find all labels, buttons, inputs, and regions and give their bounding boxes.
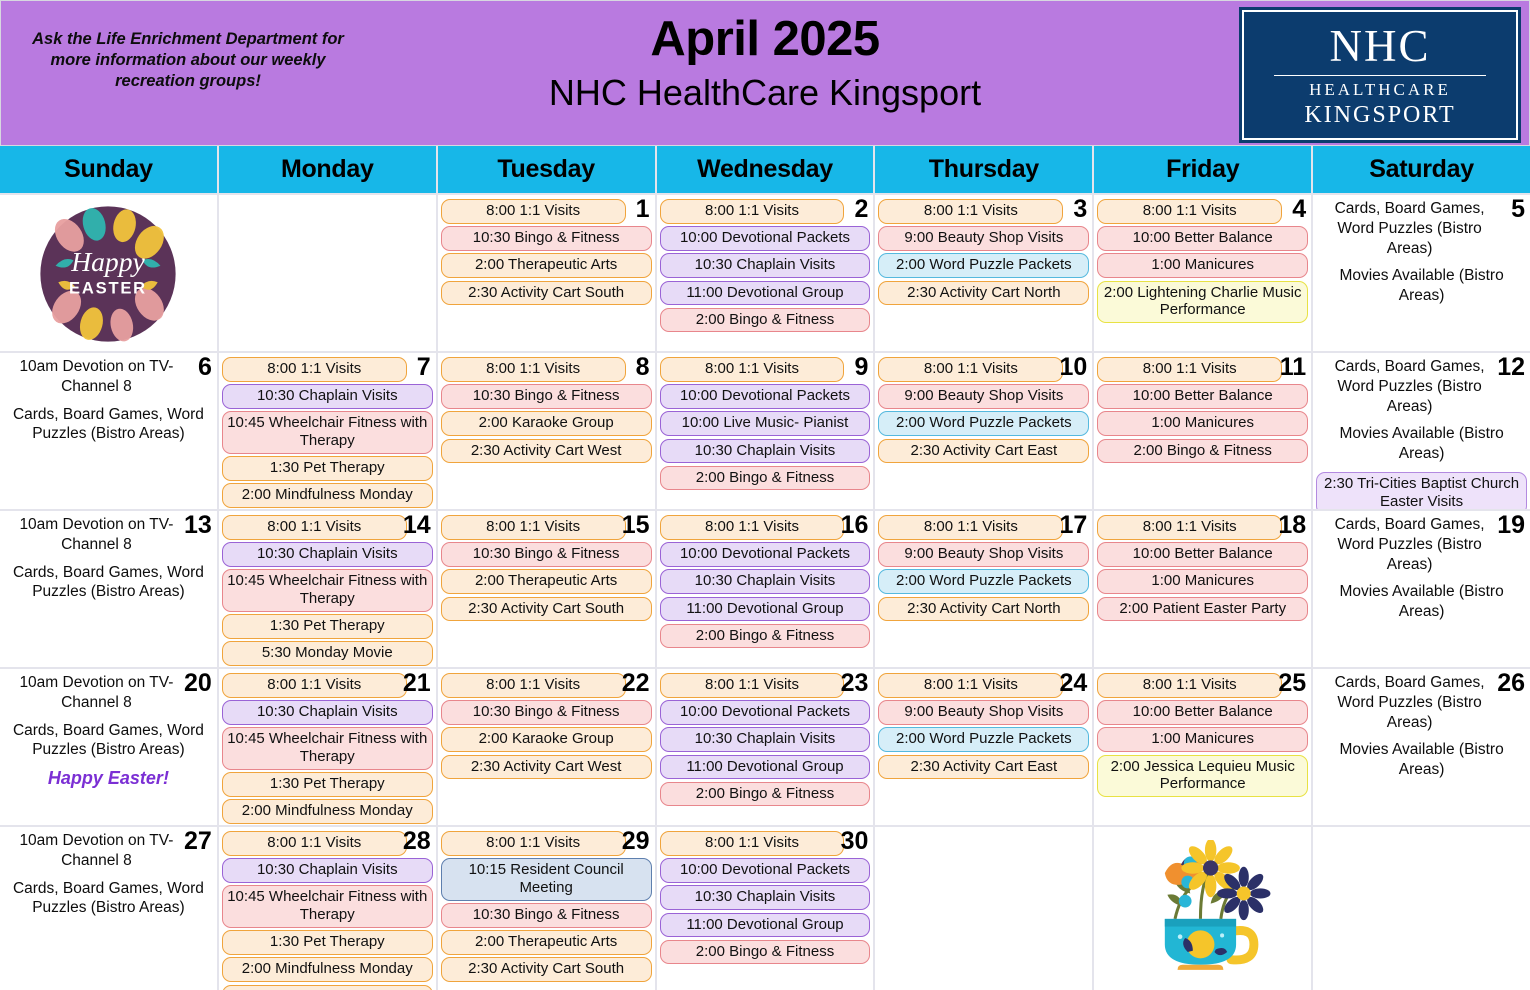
day-plain-text: Movies Available (Bistro Areas) <box>1316 424 1527 464</box>
event-pill[interactable]: 8:00 1:1 Visits <box>1097 515 1282 540</box>
event-pill[interactable]: 10:30 Chaplain Visits <box>222 858 433 883</box>
event-pill[interactable]: 2:00 Word Puzzle Packets <box>878 411 1089 436</box>
event-pill[interactable]: 8:00 1:1 Visits <box>878 357 1063 382</box>
event-pill[interactable]: 10:45 Wheelchair Fitness with Therapy <box>222 885 433 927</box>
event-pill[interactable]: 10:30 Chaplain Visits <box>660 253 871 278</box>
event-pill[interactable]: 10:00 Better Balance <box>1097 700 1308 725</box>
day-cell-24: 248:00 1:1 Visits9:00 Beauty Shop Visits… <box>875 669 1092 825</box>
event-pill[interactable]: 1:00 Manicures <box>1097 569 1308 594</box>
day-header-friday: Friday <box>1094 146 1311 193</box>
day-number: 30 <box>841 829 869 854</box>
event-pill[interactable]: 2:30 Activity Cart North <box>878 281 1089 306</box>
calendar-header: Ask the Life Enrichment Department for m… <box>0 0 1530 146</box>
event-pill[interactable]: 10:30 Chaplain Visits <box>222 542 433 567</box>
day-cell-19: 19Cards, Board Games, Word Puzzles (Bist… <box>1313 511 1530 667</box>
day-cell-12: 12Cards, Board Games, Word Puzzles (Bist… <box>1313 353 1530 509</box>
day-cell-9: 98:00 1:1 Visits10:00 Devotional Packets… <box>657 353 874 509</box>
calendar-page: Ask the Life Enrichment Department for m… <box>0 0 1530 990</box>
event-pill[interactable]: 8:00 1:1 Visits <box>441 673 626 698</box>
calendar-grid: Happy EASTER 18:00 1:1 Visits10:30 Bingo… <box>0 193 1530 990</box>
event-pill[interactable]: 2:30 Activity Cart South <box>441 597 652 622</box>
day-cell-3: 38:00 1:1 Visits9:00 Beauty Shop Visits2… <box>875 195 1092 351</box>
event-pill[interactable]: 8:00 1:1 Visits <box>660 515 845 540</box>
day-cell-17: 178:00 1:1 Visits9:00 Beauty Shop Visits… <box>875 511 1092 667</box>
event-pill[interactable]: 5:30 Monday Movie <box>222 641 433 666</box>
day-header-tuesday: Tuesday <box>438 146 655 193</box>
day-number: 25 <box>1278 671 1306 696</box>
event-pill[interactable]: 9:00 Beauty Shop Visits <box>878 542 1089 567</box>
event-pill[interactable]: 2:00 Therapeutic Arts <box>441 253 652 278</box>
day-header-monday: Monday <box>219 146 436 193</box>
day-header-wednesday: Wednesday <box>657 146 874 193</box>
day-cell-22: 228:00 1:1 Visits10:30 Bingo & Fitness2:… <box>438 669 655 825</box>
day-cell-20: 2010am Devotion on TV- Channel 8Cards, B… <box>0 669 217 825</box>
event-pill[interactable]: 2:30 Activity Cart South <box>441 281 652 306</box>
event-pill[interactable]: 10:30 Chaplain Visits <box>222 384 433 409</box>
day-cell-7: 78:00 1:1 Visits10:30 Chaplain Visits10:… <box>219 353 436 509</box>
event-pill[interactable]: 8:00 1:1 Visits <box>660 357 845 382</box>
event-pill[interactable]: 1:00 Manicures <box>1097 253 1308 278</box>
event-pill[interactable]: 10:00 Devotional Packets <box>660 542 871 567</box>
day-plain-text: 10am Devotion on TV- Channel 8 <box>3 831 214 871</box>
event-pill[interactable]: 8:00 1:1 Visits <box>441 357 626 382</box>
event-pill[interactable]: 10:00 Better Balance <box>1097 542 1308 567</box>
logo-healthcare-text: HEALTHCARE <box>1309 81 1451 98</box>
svg-text:Happy: Happy <box>71 246 146 277</box>
event-pill[interactable]: 1:00 Manicures <box>1097 727 1308 752</box>
event-pill[interactable]: 8:00 1:1 Visits <box>441 515 626 540</box>
event-pill[interactable]: 2:30 Activity Cart North <box>878 597 1089 622</box>
day-cell-empty <box>1313 827 1530 990</box>
day-cell-30: 308:00 1:1 Visits10:00 Devotional Packet… <box>657 827 874 990</box>
day-cell-1: 18:00 1:1 Visits10:30 Bingo & Fitness2:0… <box>438 195 655 351</box>
day-number: 22 <box>622 671 650 696</box>
event-pill[interactable]: 2:30 Activity Cart West <box>441 439 652 464</box>
day-number: 15 <box>622 513 650 538</box>
event-pill[interactable]: 10:30 Bingo & Fitness <box>441 903 652 928</box>
day-cell-15: 158:00 1:1 Visits10:30 Bingo & Fitness2:… <box>438 511 655 667</box>
day-number: 14 <box>403 513 431 538</box>
day-plain-text: Cards, Board Games, Word Puzzles (Bistro… <box>1316 357 1527 416</box>
flower-teacup-icon <box>1123 840 1283 980</box>
event-pill[interactable]: 10:30 Chaplain Visits <box>660 885 871 910</box>
event-pill[interactable]: 8:00 1:1 Visits <box>1097 357 1282 382</box>
event-pill[interactable]: 9:00 Beauty Shop Visits <box>878 226 1089 251</box>
event-pill[interactable]: 8:00 1:1 Visits <box>660 831 845 856</box>
day-number: 18 <box>1278 513 1306 538</box>
event-pill[interactable]: 2:00 Lightening Charlie Music Performanc… <box>1097 281 1308 323</box>
event-pill[interactable]: 10:30 Bingo & Fitness <box>441 384 652 409</box>
day-header-thursday: Thursday <box>875 146 1092 193</box>
event-pill[interactable]: 11:00 Devotional Group <box>660 597 871 622</box>
day-plain-text: Movies Available (Bistro Areas) <box>1316 266 1527 306</box>
day-plain-text: 10am Devotion on TV- Channel 8 <box>3 515 214 555</box>
event-pill[interactable]: 10:30 Chaplain Visits <box>660 727 871 752</box>
day-name-row: SundayMondayTuesdayWednesdayThursdayFrid… <box>0 146 1530 193</box>
event-pill[interactable]: 10:45 Wheelchair Fitness with Therapy <box>222 727 433 769</box>
day-plain-text: Cards, Board Games, Word Puzzles (Bistro… <box>3 879 214 919</box>
day-cell-16: 168:00 1:1 Visits10:00 Devotional Packet… <box>657 511 874 667</box>
day-plain-text: 10am Devotion on TV- Channel 8 <box>3 673 214 713</box>
event-pill[interactable]: 8:00 1:1 Visits <box>441 199 626 224</box>
event-pill[interactable]: 10:00 Better Balance <box>1097 226 1308 251</box>
event-pill[interactable]: 11:00 Devotional Group <box>660 913 871 938</box>
event-pill[interactable]: 2:00 Therapeutic Arts <box>441 569 652 594</box>
event-pill[interactable]: 2:00 Bingo & Fitness <box>660 624 871 649</box>
day-number: 9 <box>855 355 869 380</box>
event-pill[interactable]: 10:30 Chaplain Visits <box>222 700 433 725</box>
event-pill[interactable]: 10:45 Wheelchair Fitness with Therapy <box>222 569 433 611</box>
day-number: 16 <box>841 513 869 538</box>
day-number: 3 <box>1073 197 1087 222</box>
event-pill[interactable]: 10:00 Devotional Packets <box>660 858 871 883</box>
event-pill[interactable]: 2:30 Activity Cart East <box>878 439 1089 464</box>
day-number: 10 <box>1059 355 1087 380</box>
day-number: 5 <box>1511 197 1525 222</box>
day-plain-text: Cards, Board Games, Word Puzzles (Bistro… <box>3 563 214 603</box>
day-number: 24 <box>1059 671 1087 696</box>
happy-easter-badge-icon: Happy EASTER <box>39 205 177 343</box>
day-number: 4 <box>1292 197 1306 222</box>
day-cell-4: 48:00 1:1 Visits10:00 Better Balance1:00… <box>1094 195 1311 351</box>
event-pill[interactable]: 8:00 1:1 Visits <box>1097 673 1282 698</box>
event-pill[interactable]: 2:30 Activity Cart West <box>441 755 652 780</box>
day-plain-text: Cards, Board Games, Word Puzzles (Bistro… <box>1316 199 1527 258</box>
event-pill[interactable]: 2:00 Bingo & Fitness <box>1097 439 1308 464</box>
day-number: 7 <box>417 355 431 380</box>
day-cell-27: 2710am Devotion on TV- Channel 8Cards, B… <box>0 827 217 990</box>
day-number: 23 <box>841 671 869 696</box>
day-cell-8: 88:00 1:1 Visits10:30 Bingo & Fitness2:0… <box>438 353 655 509</box>
event-pill[interactable]: 11:00 Devotional Group <box>660 281 871 306</box>
day-number: 19 <box>1497 513 1525 538</box>
day-plain-text: Cards, Board Games, Word Puzzles (Bistro… <box>1316 515 1527 574</box>
event-pill[interactable]: 2:00 Mindfulness Monday <box>222 799 433 824</box>
event-pill[interactable]: 1:30 Pet Therapy <box>222 456 433 481</box>
event-pill[interactable]: 2:30 Tri-Cities Baptist Church Easter Vi… <box>1316 472 1527 509</box>
svg-text:EASTER: EASTER <box>69 278 147 297</box>
day-cell-empty: Happy EASTER <box>0 195 217 351</box>
event-pill[interactable]: 1:30 Pet Therapy <box>222 772 433 797</box>
day-cell-6: 610am Devotion on TV- Channel 8Cards, Bo… <box>0 353 217 509</box>
event-pill[interactable]: 10:30 Bingo & Fitness <box>441 226 652 251</box>
event-pill[interactable]: 9:00 Beauty Shop Visits <box>878 384 1089 409</box>
event-pill[interactable]: 2:00 Bingo & Fitness <box>660 782 871 807</box>
event-pill[interactable]: 10:30 Chaplain Visits <box>660 569 871 594</box>
day-number: 29 <box>622 829 650 854</box>
day-cell-29: 298:00 1:1 Visits10:15 Resident Council … <box>438 827 655 990</box>
day-number: 11 <box>1280 355 1306 380</box>
event-pill[interactable]: 5:30 Puzzle Me This <box>222 985 433 990</box>
day-header-sunday: Sunday <box>0 146 217 193</box>
event-pill[interactable]: 2:30 Activity Cart South <box>441 957 652 982</box>
event-pill[interactable]: 1:30 Pet Therapy <box>222 614 433 639</box>
day-number: 6 <box>198 355 212 380</box>
event-pill[interactable]: 2:00 Mindfulness Monday <box>222 483 433 508</box>
day-number: 28 <box>403 829 431 854</box>
day-number: 12 <box>1497 355 1525 380</box>
day-plain-text: Movies Available (Bistro Areas) <box>1316 740 1527 780</box>
event-pill[interactable]: 10:00 Devotional Packets <box>660 700 871 725</box>
event-pill[interactable]: 10:45 Wheelchair Fitness with Therapy <box>222 411 433 453</box>
event-pill[interactable]: 8:00 1:1 Visits <box>660 673 845 698</box>
event-pill[interactable]: 9:00 Beauty Shop Visits <box>878 700 1089 725</box>
event-pill[interactable]: 2:00 Karaoke Group <box>441 411 652 436</box>
day-cell-25: 258:00 1:1 Visits10:00 Better Balance1:0… <box>1094 669 1311 825</box>
event-pill[interactable]: 2:00 Bingo & Fitness <box>660 940 871 965</box>
event-pill[interactable]: 2:00 Bingo & Fitness <box>660 308 871 333</box>
event-pill[interactable]: 2:30 Activity Cart East <box>878 755 1089 780</box>
event-pill[interactable]: 8:00 1:1 Visits <box>660 199 845 224</box>
event-pill[interactable]: 2:00 Mindfulness Monday <box>222 957 433 982</box>
logo-divider <box>1274 75 1486 76</box>
holiday-note: Happy Easter! <box>3 768 214 789</box>
day-cell-28: 288:00 1:1 Visits10:30 Chaplain Visits10… <box>219 827 436 990</box>
day-plain-text: 10am Devotion on TV- Channel 8 <box>3 357 214 397</box>
day-cell-empty <box>875 827 1092 990</box>
logo-nhc-text: NHC <box>1329 24 1430 69</box>
event-pill[interactable]: 8:00 1:1 Visits <box>222 515 407 540</box>
day-cell-empty <box>219 195 436 351</box>
day-cell-10: 108:00 1:1 Visits9:00 Beauty Shop Visits… <box>875 353 1092 509</box>
event-pill[interactable]: 10:00 Devotional Packets <box>660 226 871 251</box>
day-header-saturday: Saturday <box>1313 146 1530 193</box>
day-number: 2 <box>855 197 869 222</box>
nhc-logo: NHC HEALTHCARE KINGSPORT <box>1239 7 1521 143</box>
event-pill[interactable]: 1:30 Pet Therapy <box>222 930 433 955</box>
event-pill[interactable]: 8:00 1:1 Visits <box>878 515 1063 540</box>
day-cell-11: 118:00 1:1 Visits10:00 Better Balance1:0… <box>1094 353 1311 509</box>
day-number: 17 <box>1059 513 1087 538</box>
day-cell-5: 5Cards, Board Games, Word Puzzles (Bistr… <box>1313 195 1530 351</box>
day-number: 21 <box>403 671 431 696</box>
event-pill[interactable]: 2:00 Jessica Lequieu Music Performance <box>1097 755 1308 797</box>
day-cell-21: 218:00 1:1 Visits10:30 Chaplain Visits10… <box>219 669 436 825</box>
event-pill[interactable]: 8:00 1:1 Visits <box>222 831 407 856</box>
event-pill[interactable]: 2:00 Bingo & Fitness <box>660 466 871 491</box>
logo-kingsport-text: KINGSPORT <box>1304 103 1455 127</box>
day-plain-text: Cards, Board Games, Word Puzzles (Bistro… <box>1316 673 1527 732</box>
day-plain-text: Cards, Board Games, Word Puzzles (Bistro… <box>3 405 214 445</box>
event-pill[interactable]: 8:00 1:1 Visits <box>222 673 407 698</box>
event-pill[interactable]: 8:00 1:1 Visits <box>1097 199 1282 224</box>
day-cell-13: 1310am Devotion on TV- Channel 8Cards, B… <box>0 511 217 667</box>
day-number: 26 <box>1497 671 1525 696</box>
event-pill[interactable]: 10:15 Resident Council Meeting <box>441 858 652 900</box>
event-pill[interactable]: 2:00 Karaoke Group <box>441 727 652 752</box>
day-cell-23: 238:00 1:1 Visits10:00 Devotional Packet… <box>657 669 874 825</box>
event-pill[interactable]: 10:30 Bingo & Fitness <box>441 542 652 567</box>
event-pill[interactable]: 2:00 Word Puzzle Packets <box>878 727 1089 752</box>
event-pill[interactable]: 2:00 Word Puzzle Packets <box>878 253 1089 278</box>
day-number: 8 <box>636 355 650 380</box>
event-pill[interactable]: 10:30 Chaplain Visits <box>660 439 871 464</box>
event-pill[interactable]: 10:30 Bingo & Fitness <box>441 700 652 725</box>
easter-illustration: Happy EASTER <box>3 199 214 349</box>
day-plain-text: Cards, Board Games, Word Puzzles (Bistro… <box>3 721 214 761</box>
event-pill[interactable]: 8:00 1:1 Visits <box>878 199 1063 224</box>
teacup-illustration <box>1097 831 1308 989</box>
day-number: 13 <box>184 513 212 538</box>
day-plain-text: Movies Available (Bistro Areas) <box>1316 582 1527 622</box>
day-cell-26: 26Cards, Board Games, Word Puzzles (Bist… <box>1313 669 1530 825</box>
event-pill[interactable]: 8:00 1:1 Visits <box>222 357 407 382</box>
day-number: 1 <box>636 197 650 222</box>
day-cell-2: 28:00 1:1 Visits10:00 Devotional Packets… <box>657 195 874 351</box>
day-number: 27 <box>184 829 212 854</box>
event-pill[interactable]: 8:00 1:1 Visits <box>441 831 626 856</box>
event-pill[interactable]: 2:00 Patient Easter Party <box>1097 597 1308 622</box>
day-cell-18: 188:00 1:1 Visits10:00 Better Balance1:0… <box>1094 511 1311 667</box>
event-pill[interactable]: 10:00 Live Music- Pianist <box>660 411 871 436</box>
event-pill[interactable]: 10:00 Devotional Packets <box>660 384 871 409</box>
event-pill[interactable]: 2:00 Word Puzzle Packets <box>878 569 1089 594</box>
day-number: 20 <box>184 671 212 696</box>
event-pill[interactable]: 1:00 Manicures <box>1097 411 1308 436</box>
event-pill[interactable]: 11:00 Devotional Group <box>660 755 871 780</box>
event-pill[interactable]: 2:00 Therapeutic Arts <box>441 930 652 955</box>
event-pill[interactable]: 10:00 Better Balance <box>1097 384 1308 409</box>
day-cell-14: 148:00 1:1 Visits10:30 Chaplain Visits10… <box>219 511 436 667</box>
day-cell-empty <box>1094 827 1311 990</box>
event-pill[interactable]: 8:00 1:1 Visits <box>878 673 1063 698</box>
